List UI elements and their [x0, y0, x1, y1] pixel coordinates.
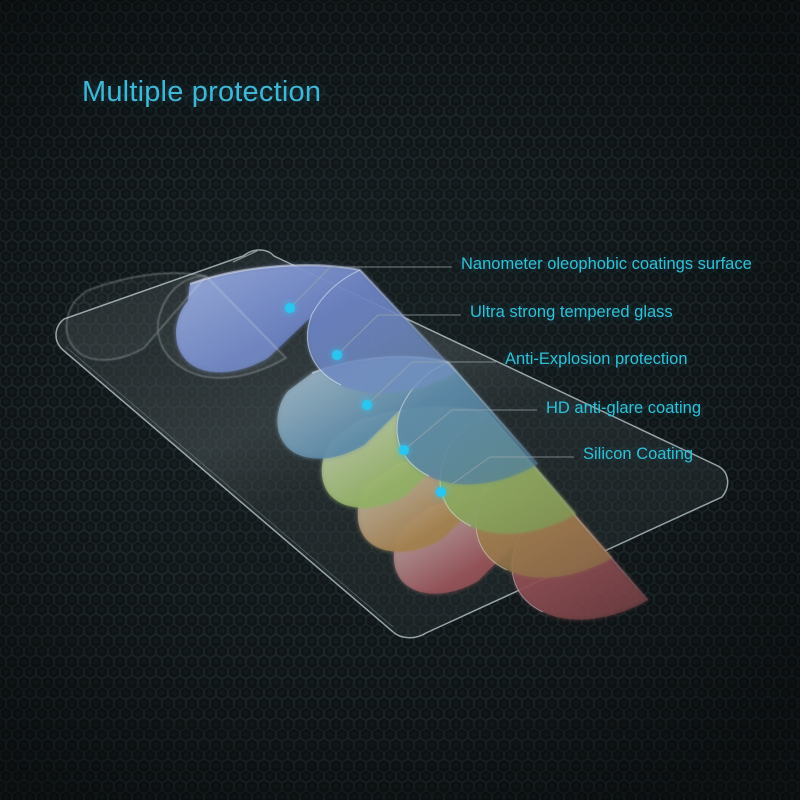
layer-label-silicon-coating: Silicon Coating: [583, 445, 693, 464]
dot-marker-5: [436, 487, 446, 497]
dot-marker-3: [362, 400, 372, 410]
dot-marker-2: [332, 350, 342, 360]
dot-marker-1: [285, 303, 295, 313]
layer-label-tempered-glass: Ultra strong tempered glass: [470, 303, 673, 322]
dot-marker-4: [399, 445, 409, 455]
layer-label-hd-anti-glare: HD anti-glare coating: [546, 399, 701, 418]
infographic-canvas: Multiple protection Nanometer oleophobic…: [0, 0, 800, 800]
layer-label-oleophobic: Nanometer oleophobic coatings surface: [461, 255, 752, 274]
page-title: Multiple protection: [82, 76, 321, 109]
layer-label-anti-explosion: Anti-Explosion protection: [505, 350, 688, 369]
